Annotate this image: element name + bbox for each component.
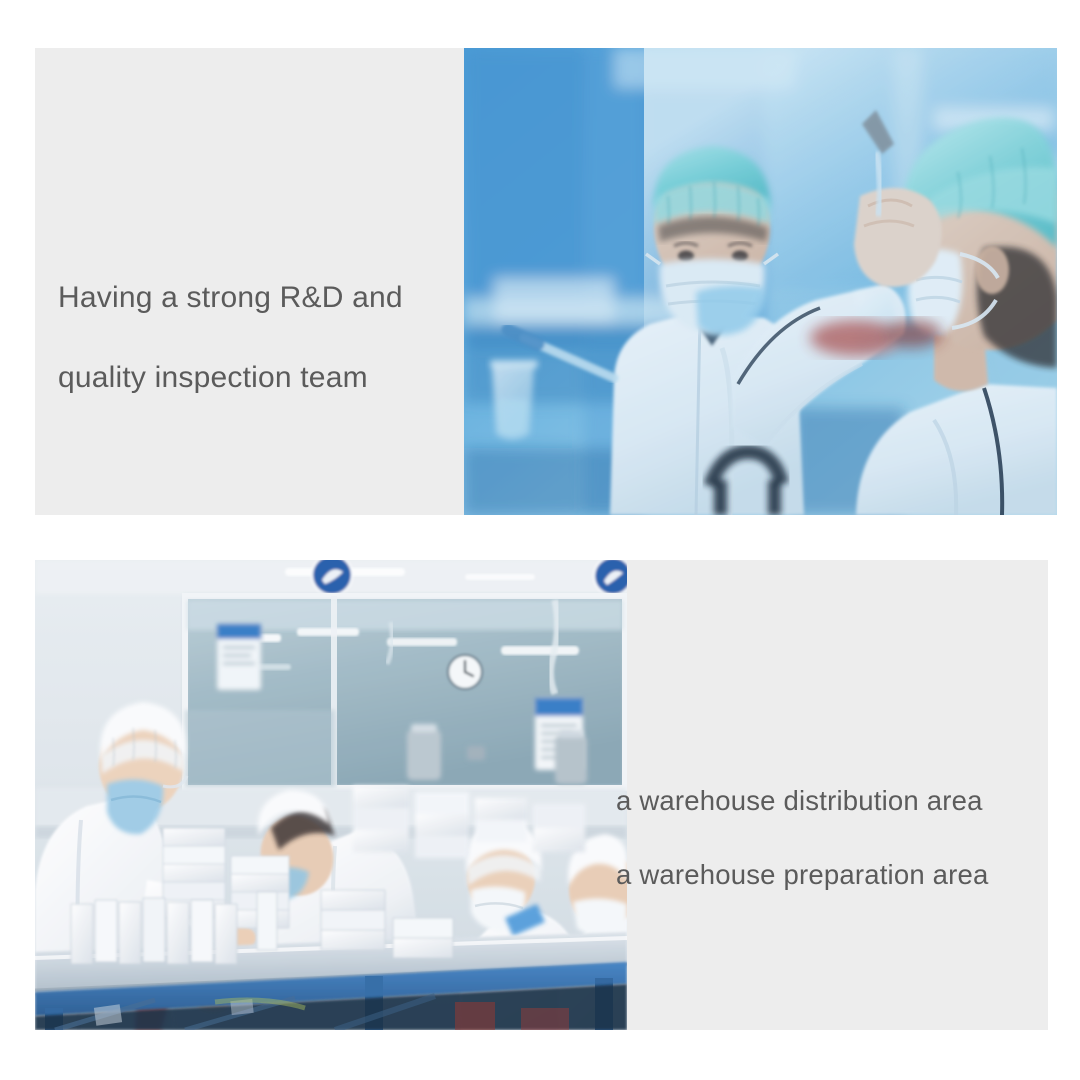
caption-warehouse-areas: a warehouse distribution area a warehous… xyxy=(616,745,1036,930)
caption-line-2: quality inspection team xyxy=(58,358,458,398)
caption-line-1: Having a strong R&D and xyxy=(58,278,458,318)
lab-quality-inspection-photo xyxy=(464,48,1057,515)
section-warehouse-areas: a warehouse distribution area a warehous… xyxy=(35,560,1048,1030)
lab-photo-illustration xyxy=(464,48,1057,515)
warehouse-photo-illustration xyxy=(35,560,627,1030)
caption-line-1: a warehouse distribution area xyxy=(616,782,1036,819)
section-rnd-quality: Having a strong R&D and quality inspecti… xyxy=(35,48,1057,515)
poster-canvas: Having a strong R&D and quality inspecti… xyxy=(0,0,1080,1080)
caption-rnd-quality: Having a strong R&D and quality inspecti… xyxy=(58,238,458,438)
caption-line-2: a warehouse preparation area xyxy=(616,856,1036,893)
warehouse-packing-floor-photo xyxy=(35,560,627,1030)
